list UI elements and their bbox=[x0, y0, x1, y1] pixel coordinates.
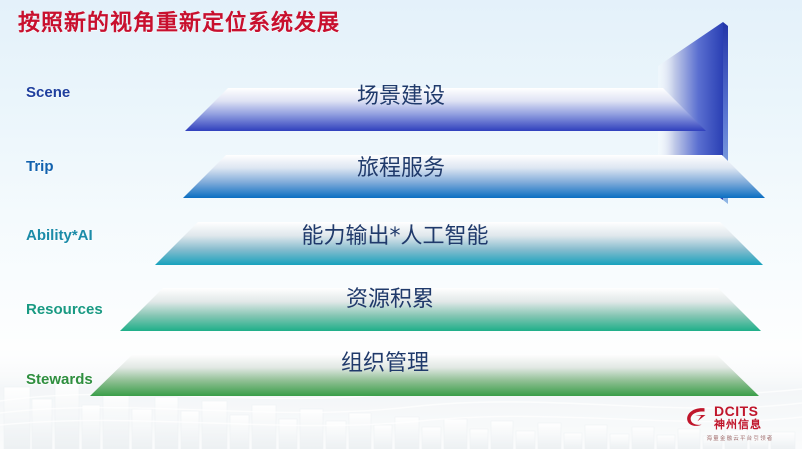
logo-english-name: DCITS bbox=[714, 404, 762, 418]
layer-text-trip: 旅程服务 bbox=[0, 150, 802, 182]
logo-row: DCITS 神州信息 bbox=[684, 403, 796, 431]
page-title: 按照新的视角重新定位系统发展 bbox=[18, 5, 340, 37]
brand-logo: DCITS 神州信息 海量金融云平台引领者 bbox=[684, 403, 796, 445]
slide-canvas: 按照新的视角重新定位系统发展 Scene Trip Ability*AI Res… bbox=[0, 0, 802, 449]
layer-text-ability-ai: 能力输出*人工智能 bbox=[0, 218, 790, 250]
logo-chinese-name: 神州信息 bbox=[714, 419, 762, 430]
layer-text-scene: 场景建设 bbox=[0, 78, 802, 110]
dcits-swoosh-icon bbox=[684, 404, 710, 430]
layer-text-stewards: 组织管理 bbox=[0, 345, 770, 377]
logo-tagline: 海量金融云平台引领者 bbox=[684, 434, 796, 442]
layer-text-resources: 资源积累 bbox=[0, 281, 780, 313]
logo-text-block: DCITS 神州信息 bbox=[714, 404, 762, 430]
